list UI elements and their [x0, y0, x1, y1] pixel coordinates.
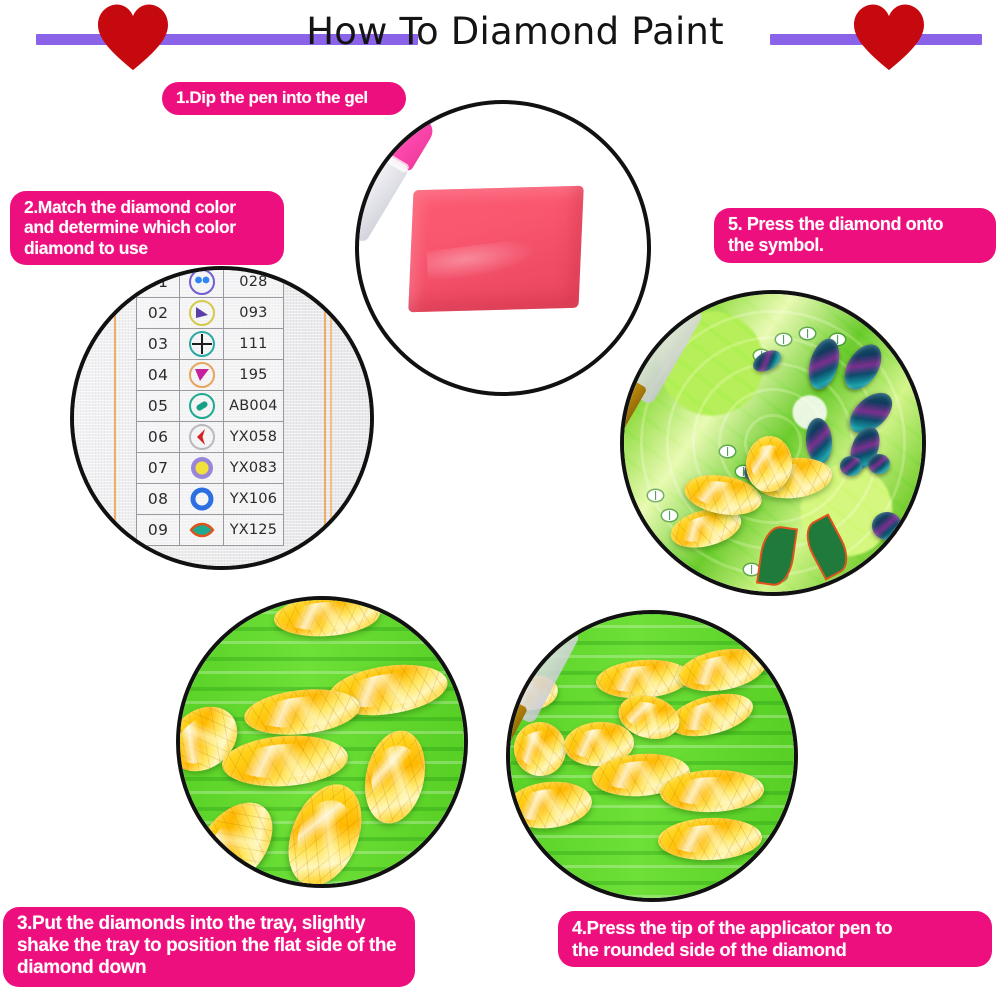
row-number: 08 — [137, 484, 180, 515]
row-number: 06 — [137, 422, 180, 453]
step-1-label: 1.Dip the pen into the gel — [162, 82, 406, 115]
row-number: 07 — [137, 453, 180, 484]
canvas-symbol — [662, 510, 677, 521]
canvas-symbol — [720, 446, 735, 457]
table-row: 08 YX106 — [137, 484, 284, 515]
step-1-photo-circle — [355, 100, 651, 396]
row-symbol-cell — [180, 360, 224, 391]
row-number: 05 — [137, 391, 180, 422]
page-title: How To Diamond Paint — [300, 10, 730, 53]
step-5-label: 5. Press the diamond onto the symbol. — [714, 208, 996, 263]
left-arrow-icon — [189, 424, 215, 450]
row-code: AB004 — [223, 391, 283, 422]
step-4-label-line-1: 4.Press the tip of the applicator pen to — [572, 917, 978, 939]
row-code: 195 — [223, 360, 283, 391]
chart-margin-rule — [114, 270, 116, 566]
row-symbol-cell — [180, 422, 224, 453]
row-symbol-cell — [180, 515, 224, 546]
infographic-canvas: How To Diamond Paint 1.Dip the pen into … — [0, 0, 1001, 1001]
table-row: 01 028 — [137, 270, 284, 298]
step-1-label-line-1: 1.Dip the pen into the gel — [176, 88, 368, 107]
step-2-label-line-3: diamond to use — [24, 238, 270, 258]
table-row: 04 195 — [137, 360, 284, 391]
step-5-label-line-1: 5. Press the diamond onto — [728, 214, 982, 235]
leaf-icon — [189, 517, 215, 543]
double-dot-icon — [189, 270, 215, 295]
step-3-label: 3.Put the diamonds into the tray, slight… — [3, 907, 415, 987]
chart-margin-rule — [330, 270, 332, 566]
row-code: 093 — [223, 298, 283, 329]
step-4-photo — [510, 614, 794, 898]
filled-circle-icon — [189, 455, 215, 481]
step-4-label: 4.Press the tip of the applicator pen to… — [558, 911, 992, 967]
row-code: YX058 — [223, 422, 283, 453]
row-number: 02 — [137, 298, 180, 329]
capsule-icon — [189, 393, 215, 419]
triangle-icon — [189, 300, 215, 326]
heart-icon — [96, 3, 170, 73]
placed-rhinestone — [868, 454, 890, 474]
step-5-photo-circle — [620, 290, 926, 596]
step-2-photo: 01 028 02 — [74, 270, 370, 566]
row-symbol-cell — [180, 298, 224, 329]
step-3-photo-circle — [176, 596, 468, 888]
row-symbol-cell — [180, 484, 224, 515]
step-2-label-line-1: 2.Match the diamond color — [24, 197, 270, 217]
table-row: 03 111 — [137, 329, 284, 360]
row-symbol-cell — [180, 453, 224, 484]
table-row: 05 AB004 — [137, 391, 284, 422]
table-row: 02 093 — [137, 298, 284, 329]
row-code: 028 — [223, 270, 283, 298]
row-symbol-cell — [180, 391, 224, 422]
table-row: 09 YX125 — [137, 515, 284, 546]
step-1-photo — [359, 104, 647, 392]
step-2-photo-circle: 01 028 02 — [70, 266, 374, 570]
heart-icon — [852, 3, 926, 73]
chart-margin-rule — [324, 270, 326, 566]
step-3-label-line-2: shake the tray to position the flat side… — [17, 935, 401, 957]
quarter-wedge-icon — [189, 362, 215, 388]
row-number: 09 — [137, 515, 180, 546]
row-number: 04 — [137, 360, 180, 391]
row-symbol-cell — [180, 270, 224, 298]
row-number: 03 — [137, 329, 180, 360]
step-2-label-line-2: and determine which color — [24, 217, 270, 237]
row-number: 01 — [137, 270, 180, 298]
step-4-label-line-2: the rounded side of the diamond — [572, 939, 978, 961]
table-row: 07 YX083 — [137, 453, 284, 484]
row-code: YX106 — [223, 484, 283, 515]
step-3-photo — [180, 600, 464, 884]
canvas-symbol — [800, 328, 815, 339]
canvas-symbol — [648, 490, 663, 501]
step-5-photo — [624, 294, 922, 592]
step-5-label-line-2: the symbol. — [728, 235, 982, 256]
step-3-label-line-1: 3.Put the diamonds into the tray, slight… — [17, 913, 401, 935]
ring-icon — [189, 486, 215, 512]
row-symbol-cell — [180, 329, 224, 360]
step-3-label-line-3: diamond down — [17, 957, 401, 979]
plus-icon — [189, 331, 215, 357]
color-code-table-body: 01 028 02 — [137, 270, 284, 546]
table-row: 06 YX058 — [137, 422, 284, 453]
pink-gel-block — [408, 186, 584, 312]
step-2-label: 2.Match the diamond color and determine … — [10, 191, 284, 265]
row-code: 111 — [223, 329, 283, 360]
row-code: YX125 — [223, 515, 283, 546]
placed-rhinestone — [840, 456, 862, 476]
color-code-table: 01 028 02 — [136, 270, 284, 546]
row-code: YX083 — [223, 453, 283, 484]
step-4-photo-circle — [506, 610, 798, 902]
placed-rhinestone — [872, 512, 902, 540]
canvas-symbol — [776, 334, 791, 345]
